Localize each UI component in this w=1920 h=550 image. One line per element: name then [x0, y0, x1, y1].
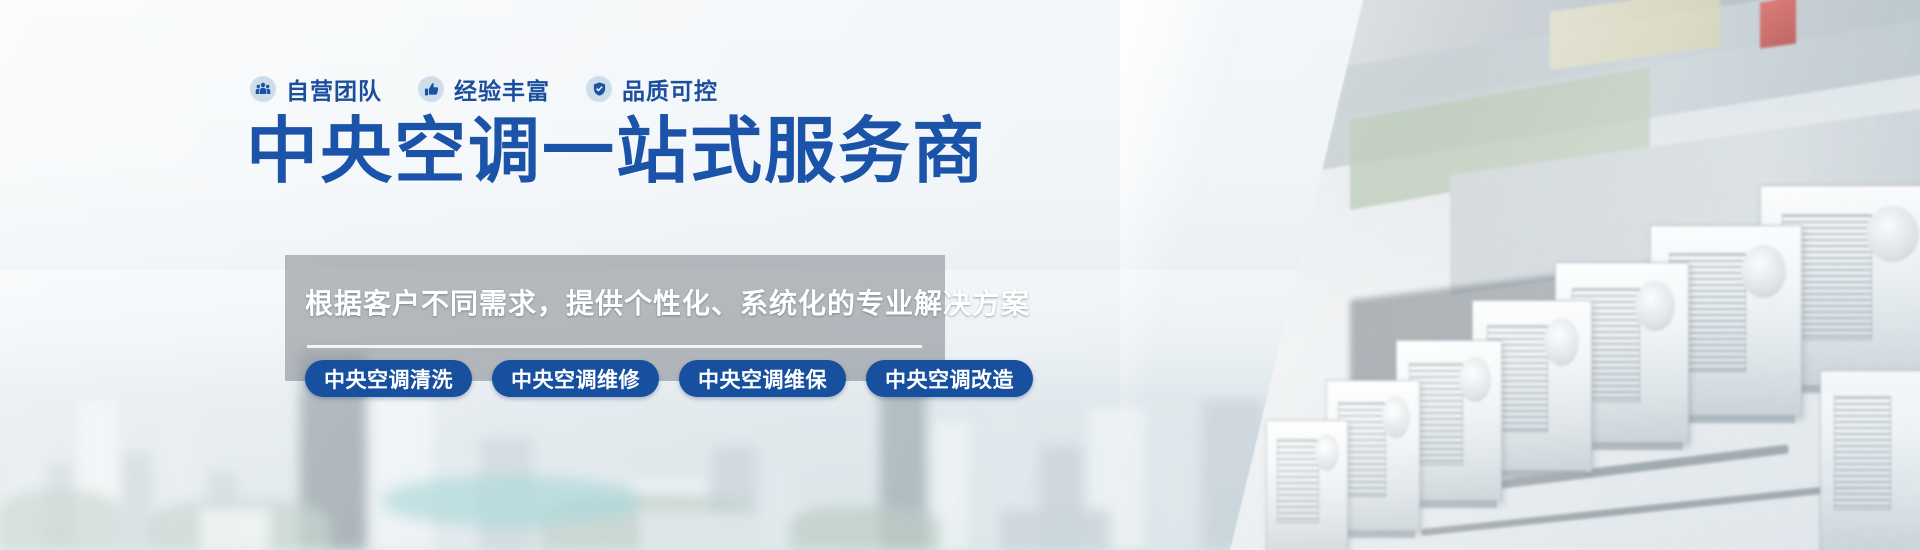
service-pill-cleaning[interactable]: 中央空调清洗	[305, 360, 472, 397]
page-title: 中央空调一站式服务商	[246, 112, 986, 193]
banner-content: 自营团队 经验丰富 品质可控	[0, 0, 1100, 550]
badge-self-operated-team: 自营团队	[250, 72, 382, 106]
shield-check-icon	[586, 76, 612, 102]
hero-banner: 自营团队 经验丰富 品质可控	[0, 0, 1920, 550]
people-group-icon	[250, 76, 276, 102]
subtitle-text: 根据客户不同需求，提供个性化、系统化的专业解决方案	[305, 282, 1030, 322]
badge-quality-controllable: 品质可控	[586, 72, 718, 106]
badge-label: 品质可控	[622, 72, 718, 106]
thumbs-up-icon	[418, 76, 444, 102]
service-pill-renovation[interactable]: 中央空调改造	[866, 360, 1033, 397]
service-pill-maintenance[interactable]: 中央空调维保	[679, 360, 846, 397]
divider-line	[307, 345, 922, 348]
feature-badges: 自营团队 经验丰富 品质可控	[250, 72, 718, 106]
service-pill-list: 中央空调清洗 中央空调维修 中央空调维保 中央空调改造	[305, 360, 1033, 397]
service-pill-repair[interactable]: 中央空调维修	[492, 360, 659, 397]
badge-label: 自营团队	[286, 72, 382, 106]
badge-rich-experience: 经验丰富	[418, 72, 550, 106]
badge-label: 经验丰富	[454, 72, 550, 106]
